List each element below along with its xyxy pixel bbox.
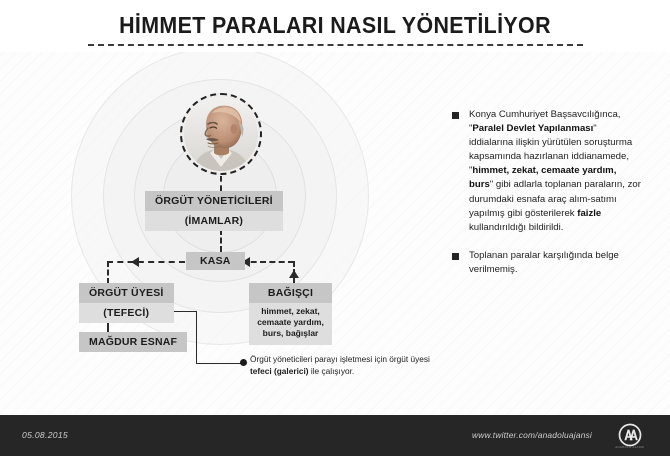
box-bagisci[interactable]: BAĞIŞÇI himmet, zekat, cemaate yardım, b…: [249, 283, 332, 345]
arrow-up-to-kasa: [289, 270, 299, 278]
bullet-1-bold-1: Paralel Devlet Yapılanması: [472, 123, 593, 134]
header-bar: HİMMET PARALARI NASIL YÖNETİLİYOR: [0, 0, 670, 52]
portrait-avatar: [180, 93, 262, 175]
bullet-1-part-4: kullandırıldığı bildirildi.: [469, 222, 563, 233]
aa-logo-subtext: ANADOLU AJANSI: [606, 446, 654, 449]
bullet-2-part-1: Toplanan paralar karşılığında belge veri…: [469, 250, 619, 275]
page-title: HİMMET PARALARI NASIL YÖNETİLİYOR: [23, 12, 646, 39]
bullet-1-part-3: " gibi adlarla toplanan paraların, zor d…: [469, 179, 641, 218]
connector-tefeci-elbow-vertical: [196, 311, 197, 363]
title-divider: [88, 44, 583, 46]
arrow-left-to-orgut-uyesi: [131, 257, 139, 267]
square-bullet-icon: [452, 112, 459, 119]
infographic-canvas: HİMMET PARALARI NASIL YÖNETİLİYOR: [0, 0, 670, 456]
bullet-text-1: Konya Cumhuriyet Başsavcılığınca, "Paral…: [469, 108, 642, 235]
footer-bar: 05.08.2015 www.twitter.com/anadoluajansi…: [0, 415, 670, 456]
note-line-2: işletmesi için örgüt üyesi: [340, 354, 430, 364]
box-magdur-esnaf-title: MAĞDUR ESNAF: [79, 332, 187, 352]
note-line-1: Örgüt yöneticileri parayı: [250, 354, 338, 364]
list-item: Toplanan paralar karşılığında belge veri…: [452, 249, 642, 277]
connector-tefeci-elbow-bottom: [196, 363, 243, 364]
box-orgut-yoneticileri[interactable]: ÖRGÜT YÖNETİCİLERİ (İMAMLAR): [145, 191, 283, 231]
box-bagisci-subtitle: himmet, zekat, cemaate yardım, burs, bağ…: [249, 303, 332, 345]
square-bullet-icon: [452, 253, 459, 260]
footer-date: 05.08.2015: [22, 430, 68, 440]
box-orgut-yoneticileri-title: ÖRGÜT YÖNETİCİLERİ: [145, 191, 283, 211]
box-orgut-yoneticileri-subtitle: (İMAMLAR): [145, 211, 283, 231]
bullet-text-2: Toplanan paralar karşılığında belge veri…: [469, 249, 642, 277]
note-bold: tefeci (galerici): [250, 366, 309, 376]
list-item: Konya Cumhuriyet Başsavcılığınca, "Paral…: [452, 108, 642, 235]
bullet-1-bold-3: faizle: [577, 208, 601, 219]
diagram-note: Örgüt yöneticileri parayı işletmesi için…: [250, 353, 430, 378]
footer-twitter-url[interactable]: www.twitter.com/anadoluajansi: [472, 430, 592, 440]
portrait-photo: [184, 97, 258, 171]
connector-kasa-to-orgut-uyesi: [107, 261, 185, 263]
side-panel: Konya Cumhuriyet Başsavcılığınca, "Paral…: [452, 108, 642, 291]
box-magdur-esnaf[interactable]: MAĞDUR ESNAF: [79, 332, 187, 352]
note-bullet-dot: [240, 359, 247, 366]
box-orgut-uyesi-title: ÖRGÜT ÜYESİ: [79, 283, 174, 303]
note-line-3: ile çalışıyor.: [309, 366, 355, 376]
connector-kasa-left-stem: [107, 261, 109, 284]
box-orgut-uyesi-subtitle: (TEFECİ): [79, 303, 174, 323]
box-kasa[interactable]: KASA: [186, 252, 245, 270]
box-orgut-uyesi[interactable]: ÖRGÜT ÜYESİ (TEFECİ): [79, 283, 174, 323]
box-kasa-title: KASA: [186, 252, 245, 270]
box-bagisci-title: BAĞIŞÇI: [249, 283, 332, 303]
connector-yoneticiler-to-kasa: [220, 229, 222, 252]
connector-portrait-to-yoneticiler: [220, 176, 222, 191]
